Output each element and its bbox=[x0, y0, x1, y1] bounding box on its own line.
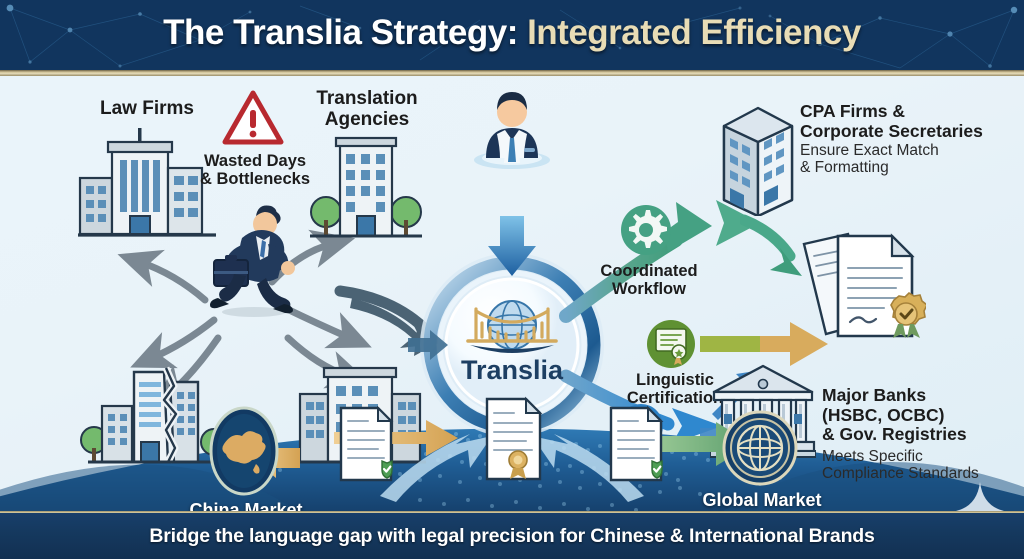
page-title: The Translia Strategy: Integrated Effici… bbox=[0, 13, 1024, 53]
warning-text: Wasted Days & Bottlenecks bbox=[180, 152, 330, 189]
business-person-icon bbox=[472, 84, 552, 170]
outcome-cpa-subtitle: Ensure Exact Match & Formatting bbox=[800, 142, 1020, 177]
chaos-arrow-to-hub bbox=[350, 298, 438, 348]
cpa-title-line1: CPA Firms & bbox=[800, 102, 1020, 122]
law-firms-label: Law Firms bbox=[62, 98, 232, 119]
banks-title-line1: Major Banks bbox=[822, 386, 1024, 406]
outcome-cpa-title: CPA Firms & Corporate Secretaries bbox=[800, 102, 1020, 141]
banks-sub-line1: Meets Specific bbox=[822, 448, 1024, 465]
branch-label-coordinated-workflow: Coordinated Workflow bbox=[574, 262, 724, 299]
tall-office-building-icon bbox=[706, 104, 796, 216]
document-check-icon bbox=[338, 405, 394, 483]
diagram-stage: Law Firms Wasted Days & Bottlenecks Tran… bbox=[0, 76, 1024, 513]
title-accent: Integrated Efficiency bbox=[518, 13, 861, 52]
global-market-label: Global Market bbox=[694, 490, 830, 511]
inbound-arrow bbox=[488, 216, 536, 276]
footer-band: Bridge the language gap with legal preci… bbox=[0, 513, 1024, 559]
agency-building-icon bbox=[310, 134, 422, 242]
hub-label: Translia bbox=[452, 355, 572, 386]
chaos-arrow-2 bbox=[152, 320, 214, 358]
footer-tagline: Bridge the language gap with legal preci… bbox=[0, 525, 1024, 548]
running-businessman-icon bbox=[196, 198, 306, 318]
certificate-icon bbox=[646, 319, 696, 369]
translation-agencies-line1: Translation bbox=[282, 88, 452, 109]
infographic-canvas: The Translia Strategy: Integrated Effici… bbox=[0, 0, 1024, 559]
document-check-icon bbox=[608, 405, 664, 483]
outcome-banks-title: Major Banks (HSBC, OCBC) & Gov. Registri… bbox=[822, 386, 1024, 445]
translation-agencies-label: Translation Agencies bbox=[282, 88, 452, 131]
outcome-banks-subtitle: Meets Specific Compliance Standards bbox=[822, 448, 1024, 483]
warning-line2: & Bottlenecks bbox=[180, 170, 330, 188]
cpa-sub-line1: Ensure Exact Match bbox=[800, 142, 1020, 159]
globe-grid-icon bbox=[722, 409, 798, 487]
banks-title-line3: & Gov. Registries bbox=[822, 425, 1024, 445]
banks-title-line2: (HSBC, OCBC) bbox=[822, 406, 1024, 426]
branch-1-line1: Coordinated bbox=[574, 262, 724, 280]
branch-1-line2: Workflow bbox=[574, 280, 724, 298]
header-band: The Translia Strategy: Integrated Effici… bbox=[0, 0, 1024, 72]
warning-line1: Wasted Days bbox=[180, 152, 330, 170]
bridge-globe-icon bbox=[462, 295, 562, 361]
china-map-icon bbox=[208, 406, 280, 496]
document-seal-icon bbox=[484, 396, 544, 482]
cpa-title-line2: Corporate Secretaries bbox=[800, 122, 1020, 142]
cpa-sub-line2: & Formatting bbox=[800, 159, 1020, 176]
certified-document-icon bbox=[796, 226, 926, 346]
title-primary: The Translia Strategy: bbox=[163, 13, 518, 52]
translation-agencies-line2: Agencies bbox=[282, 109, 452, 130]
gear-icon bbox=[620, 204, 672, 256]
warning-triangle-icon bbox=[222, 90, 284, 146]
